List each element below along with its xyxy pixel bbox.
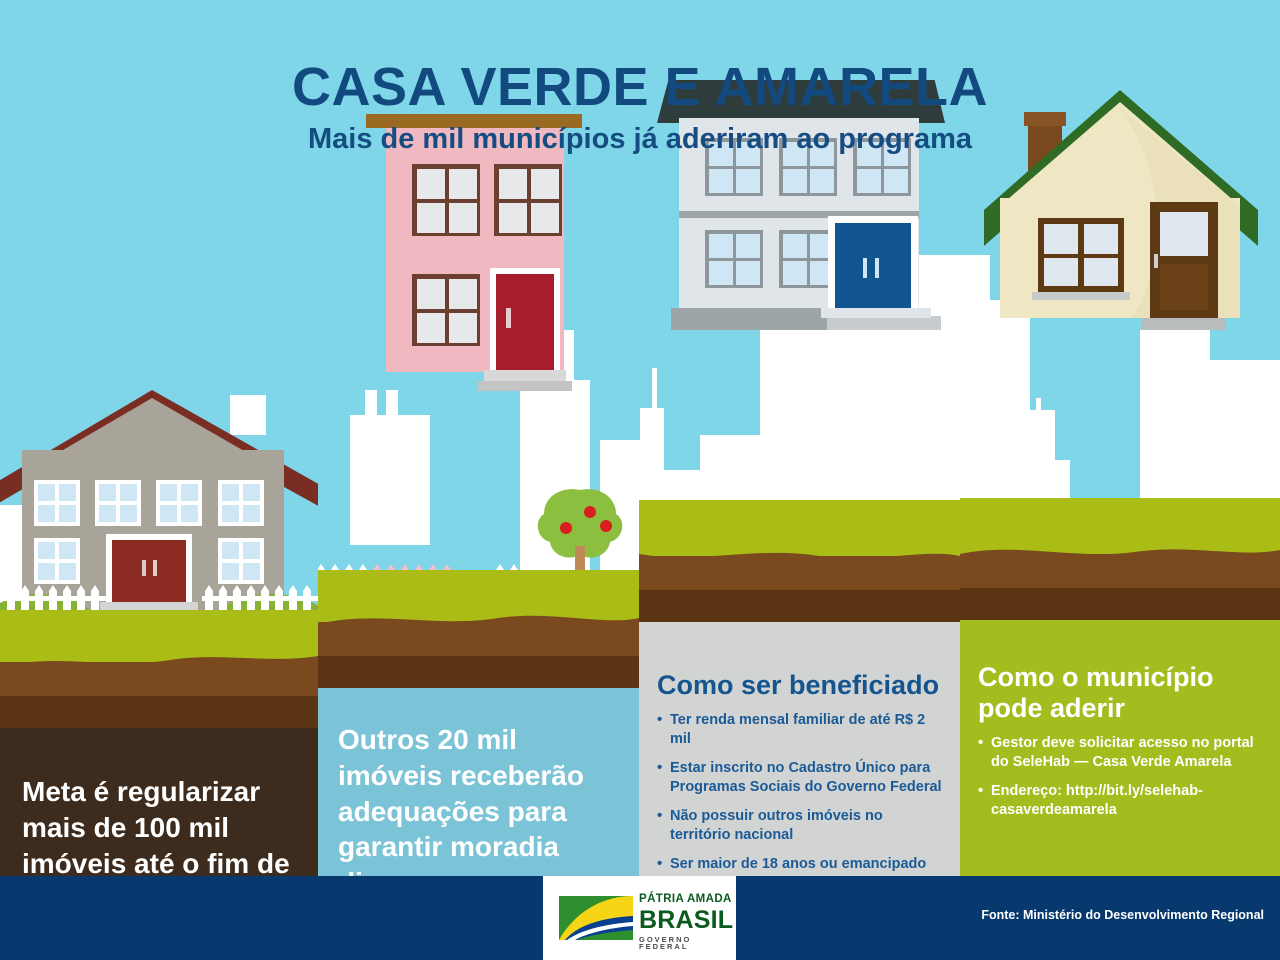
soil-layer [960,554,1280,588]
panel-adequacoes-text: Outros 20 mil imóveis receberão adequaçõ… [338,722,619,876]
infographic-canvas: CASA VERDE E AMARELA Mais de mil municíp… [0,0,1280,960]
logo-line-3: GOVERNO FEDERAL [639,936,736,951]
ground-stack-4 [960,498,1280,620]
header: CASA VERDE E AMARELA Mais de mil municíp… [0,60,1280,156]
panel-meta-text: Meta é regularizar mais de 100 mil imóve… [22,774,296,876]
brasil-logo-text: PÁTRIA AMADA BRASIL GOVERNO FEDERAL [639,894,736,951]
column-municipio: Como o município pode aderir Gestor deve… [960,80,1280,876]
page-title: CASA VERDE E AMARELA [0,60,1280,114]
panel-beneficiado-content: Como ser beneficiado Ter renda mensal fa… [639,670,960,876]
brasil-flag-icon [559,896,633,940]
list-item: Estar inscrito no Cadastro Único para Pr… [657,759,946,796]
subsoil-layer [318,656,639,688]
subsoil-layer [960,588,1280,620]
list-item: Ter renda mensal familiar de até R$ 2 mi… [657,711,946,748]
ground-stack-1 [0,610,318,728]
logo-line-2: BRASIL [639,908,736,933]
soil-layer [318,622,639,656]
list-item: Não possuir outros imóveis no território… [657,807,946,844]
footer-bar: PÁTRIA AMADA BRASIL GOVERNO FEDERAL Font… [0,876,1280,960]
municipio-list: Gestor deve solicitar acesso no portal d… [978,734,1272,819]
logo-line-1: PÁTRIA AMADA [639,894,736,906]
page-subtitle: Mais de mil municípios já aderiram ao pr… [0,124,1280,156]
column-adequacoes: Outros 20 mil imóveis receberão adequaçõ… [318,80,639,876]
beneficiado-list: Ter renda mensal familiar de até R$ 2 mi… [657,711,946,874]
panel-municipio: Como o município pode aderir Gestor deve… [960,620,1280,876]
list-item[interactable]: Endereço: http://bit.ly/selehab-casaverd… [978,782,1272,819]
list-item: Gestor deve solicitar acesso no portal d… [978,734,1272,771]
list-item: Ser maior de 18 anos ou emancipado [657,855,946,874]
source-attribution: Fonte: Ministério do Desenvolvimento Reg… [981,908,1264,922]
ground-stack-2 [318,570,639,688]
ground-stack-3 [639,500,960,622]
panel-meta: Meta é regularizar mais de 100 mil imóve… [0,728,318,876]
panel-meta-text-wrap: Meta é regularizar mais de 100 mil imóve… [0,774,318,876]
subsoil-layer [0,696,318,728]
panel-beneficiado: Como ser beneficiado Ter renda mensal fa… [639,622,960,876]
panel-municipio-content: Como o município pode aderir Gestor deve… [960,662,1280,830]
brasil-logo: PÁTRIA AMADA BRASIL GOVERNO FEDERAL [543,876,736,960]
column-beneficiado: Como ser beneficiado Ter renda mensal fa… [639,80,960,876]
column-meta: Meta é regularizar mais de 100 mil imóve… [0,80,318,876]
subsoil-layer [639,590,960,622]
panel-municipio-heading: Como o município pode aderir [978,662,1272,724]
soil-layer [639,556,960,590]
panel-adequacoes-text-wrap: Outros 20 mil imóveis receberão adequaçõ… [318,722,639,876]
panel-beneficiado-heading: Como ser beneficiado [657,670,946,701]
soil-layer [0,662,318,696]
panel-adequacoes: Outros 20 mil imóveis receberão adequaçõ… [318,688,639,876]
